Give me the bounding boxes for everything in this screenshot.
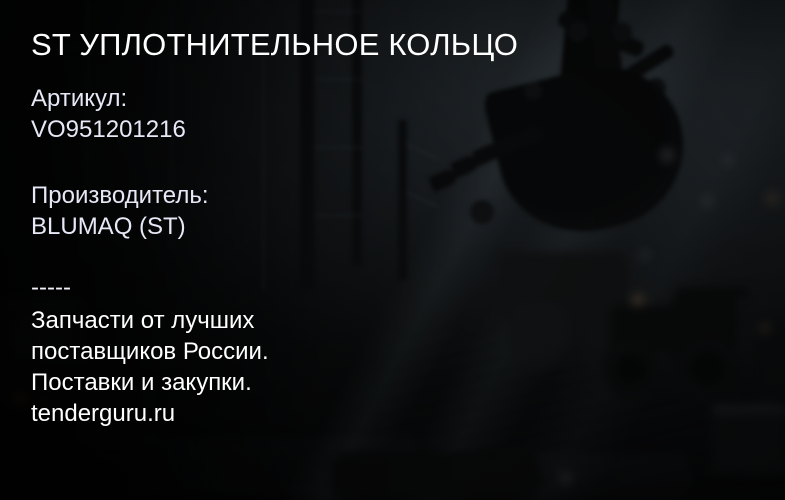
promo-line-2: поставщиков России. [31, 336, 269, 367]
product-banner: ST УПЛОТНИТЕЛЬНОЕ КОЛЬЦО Артикул: VO9512… [0, 0, 785, 500]
promo-line-1: Запчасти от лучших [31, 305, 269, 336]
promo-block: Запчасти от лучших поставщиков России. П… [31, 305, 269, 429]
promo-website-url: tenderguru.ru [31, 398, 269, 429]
manufacturer-label: Производитель: [31, 182, 209, 209]
article-field: Артикул: VO951201216 [31, 83, 186, 145]
page-title: ST УПЛОТНИТЕЛЬНОЕ КОЛЬЦО [31, 26, 518, 64]
banner-content: ST УПЛОТНИТЕЛЬНОЕ КОЛЬЦО Артикул: VO9512… [0, 0, 785, 500]
promo-line-3: Поставки и закупки. [31, 367, 269, 398]
manufacturer-field: Производитель: BLUMAQ (ST) [31, 180, 209, 242]
article-value: VO951201216 [31, 114, 186, 145]
manufacturer-value: BLUMAQ (ST) [31, 211, 209, 242]
article-label: Артикул: [31, 85, 127, 112]
text-divider: ----- [31, 272, 71, 303]
